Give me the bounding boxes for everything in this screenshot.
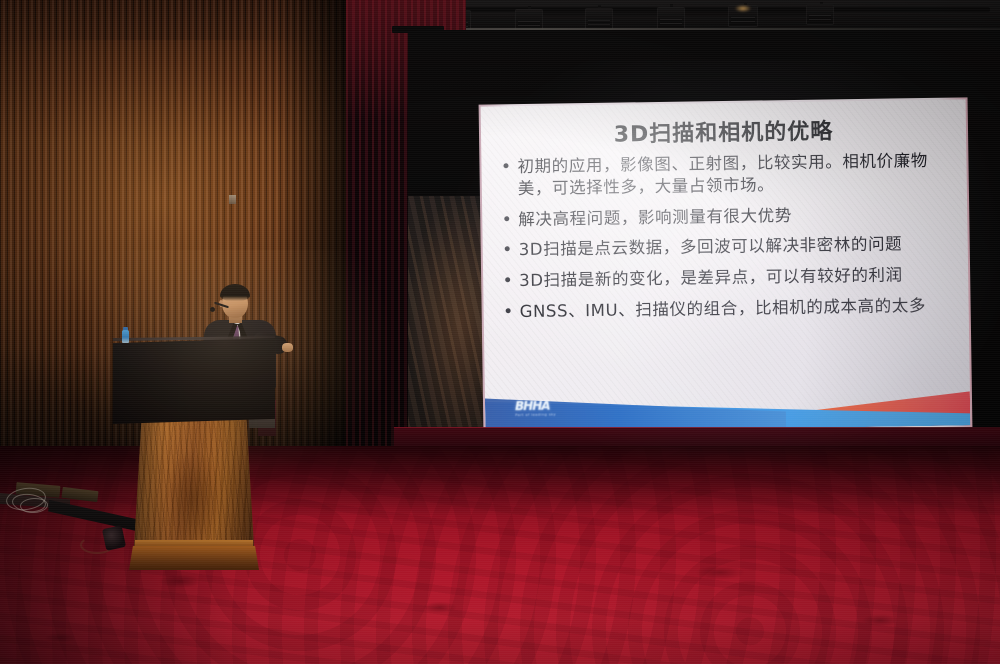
podium-base-lip <box>135 540 253 547</box>
list-item: 解决高程问题，影响测量有很大优势 <box>504 202 953 230</box>
projection-screen[interactable]: 3D扫描和相机的优略 初期的应用，影像图、正射图，比较实用。相机价廉物美，可选择… <box>479 97 973 434</box>
cable-clamp <box>102 525 126 551</box>
logo-wordmark: BHHA <box>515 399 577 412</box>
bullet-dot-icon <box>503 156 517 168</box>
stage-scene: 3D扫描和相机的优略 初期的应用，影像图、正射图，比较实用。相机价廉物美，可选择… <box>0 0 1000 664</box>
list-item: GNSS、IMU、扫描仪的组合，比相机的成本高的太多 <box>505 294 954 322</box>
podium-body <box>133 418 255 578</box>
water-bottle <box>122 330 129 343</box>
presentation-slide: 3D扫描和相机的优略 初期的应用，影像图、正射图，比较实用。相机价廉物美，可选择… <box>481 99 971 432</box>
list-item: 初期的应用，影像图、正射图，比较实用。相机价廉物美，可选择性多，大量占领市场。 <box>503 150 953 200</box>
bullet-dot-icon <box>505 301 519 313</box>
slide-bullet-text: 解决高程问题，影响测量有很大优势 <box>518 202 953 230</box>
bullet-dot-icon <box>505 239 519 251</box>
slide-footer-band: BHHA Part of leading sky <box>485 379 971 432</box>
bullet-dot-icon <box>504 209 518 221</box>
logo-tagline: Part of leading sky <box>515 412 577 417</box>
podium-desk-top <box>113 338 275 424</box>
presenter-hair <box>220 284 250 301</box>
microphone-icon <box>210 307 215 312</box>
wall-panel-plate <box>229 195 236 204</box>
slide-title: 3D扫描和相机的优略 <box>481 111 966 150</box>
slide-bullet-text: 初期的应用，影像图、正射图，比较实用。相机价廉物美，可选择性多，大量占领市场。 <box>517 150 953 200</box>
stage-light-fixture-7 <box>806 4 834 25</box>
podium-plinth <box>129 546 259 570</box>
presenter-hand <box>282 343 293 352</box>
slide-logo: BHHA Part of leading sky <box>515 399 577 421</box>
stage-light-fixture-5 <box>657 7 685 29</box>
bullet-dot-icon <box>505 270 519 282</box>
slide-bullet-list: 初期的应用，影像图、正射图，比较实用。相机价廉物美，可选择性多，大量占领市场。 … <box>503 150 955 332</box>
list-item: 3D扫描是新的变化，是差异点，可以有较好的利润 <box>505 264 954 292</box>
slide-bullet-text: GNSS、IMU、扫描仪的组合，比相机的成本高的太多 <box>519 294 954 322</box>
slide-bullet-text: 3D扫描是新的变化，是差异点，可以有较好的利润 <box>519 264 954 292</box>
stage-light-fixture-6 <box>728 5 758 27</box>
slide-bullet-text: 3D扫描是点云数据，多回波可以解决非密林的问题 <box>519 233 954 261</box>
list-item: 3D扫描是点云数据，多回波可以解决非密林的问题 <box>505 233 954 261</box>
stage-light-fixture-4 <box>585 8 613 30</box>
